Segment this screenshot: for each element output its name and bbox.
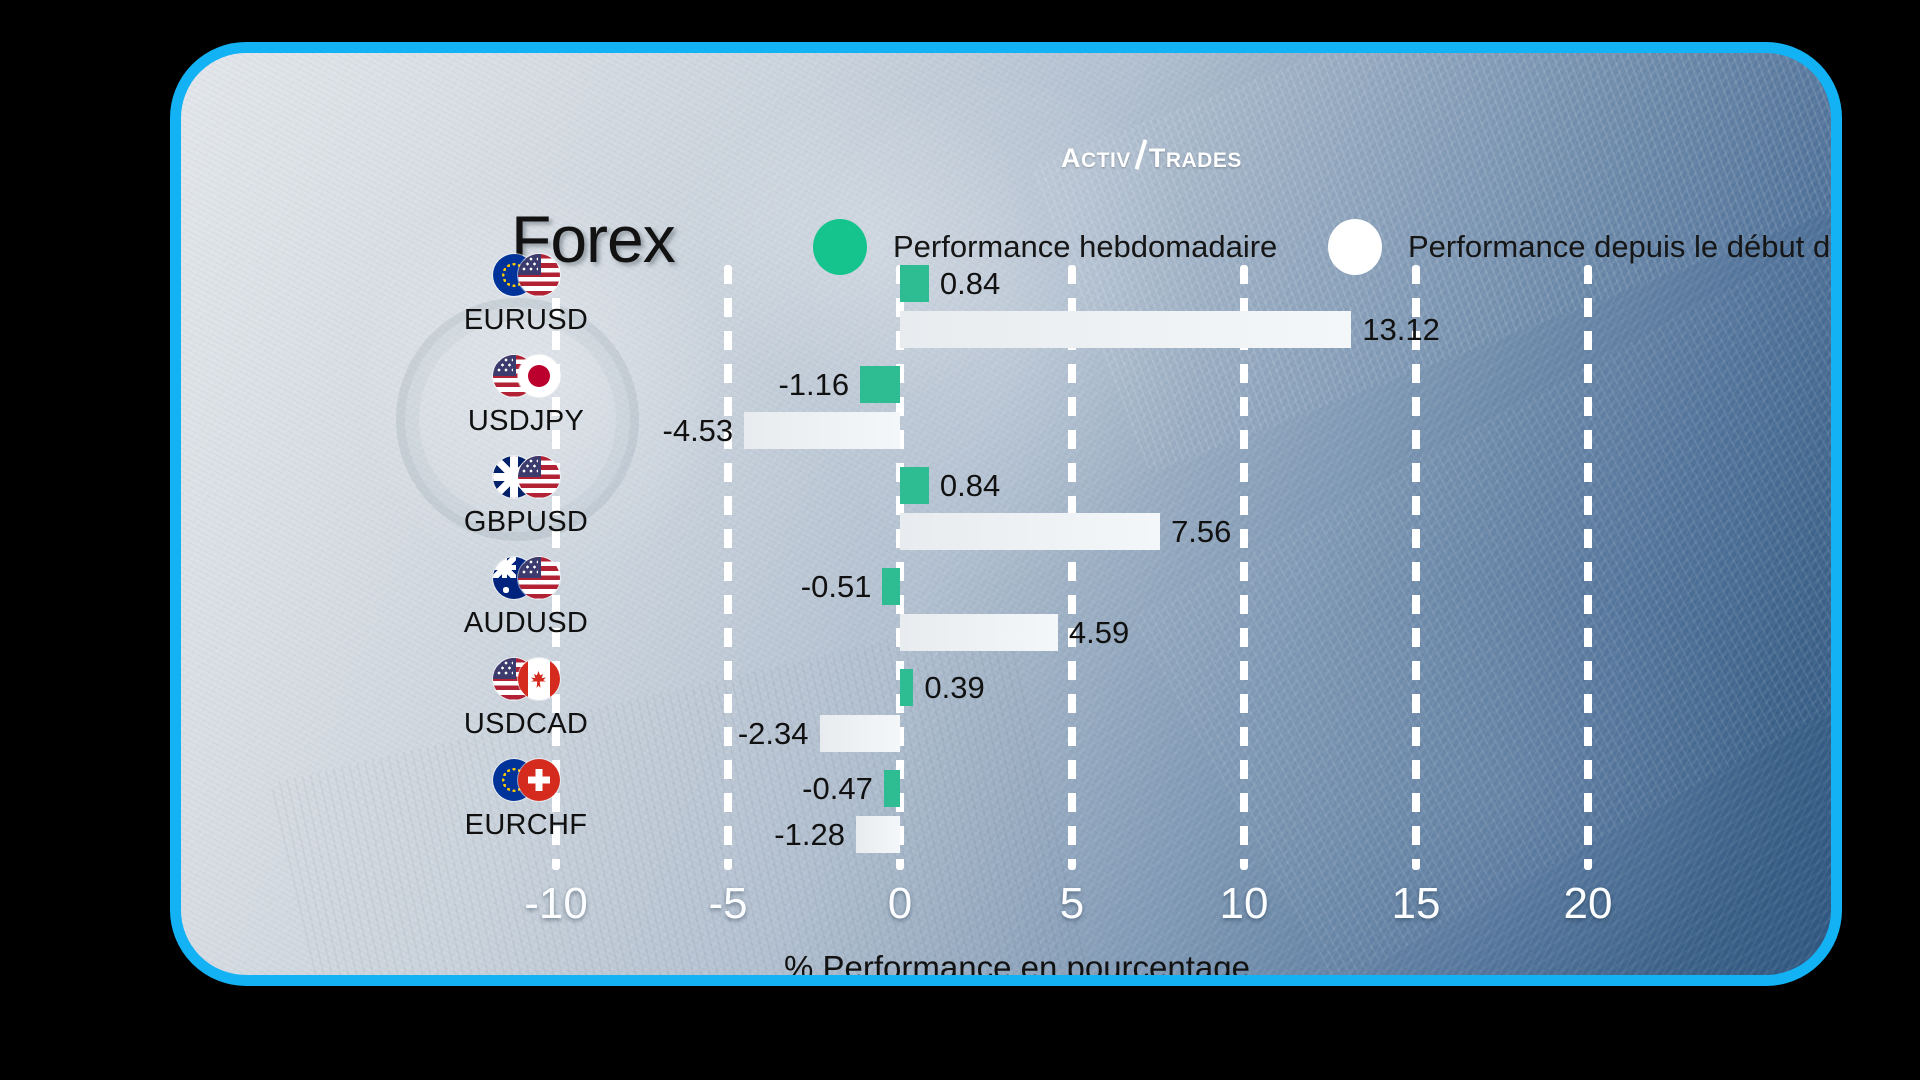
- weekly-value-usdcad: 0.39: [924, 669, 984, 706]
- ytd-bar-usdcad[interactable]: [820, 715, 900, 752]
- ytd-bar-usdjpy[interactable]: [744, 412, 900, 449]
- flag-pair: [411, 755, 641, 805]
- ytd-value-audusd: 4.59: [1069, 614, 1129, 651]
- ytd-bar-eurchf[interactable]: [856, 816, 900, 853]
- pair-label-eurusd[interactable]: EURUSD: [411, 250, 641, 337]
- pair-name: AUDUSD: [411, 607, 641, 640]
- weekly-value-usdjpy: -1.16: [778, 366, 849, 403]
- ch-flag-icon: [518, 759, 560, 801]
- weekly-value-audusd: -0.51: [801, 568, 872, 605]
- pair-name: EURUSD: [411, 304, 641, 337]
- forex-performance-card: ACTIV TRADES Forex Performance hebdomada…: [170, 42, 1842, 986]
- flag-pair: [411, 250, 641, 300]
- weekly-value-eurusd: 0.84: [940, 265, 1000, 302]
- jp-flag-icon: [518, 355, 560, 397]
- screenshot-root: ACTIV TRADES Forex Performance hebdomada…: [0, 0, 1920, 1080]
- ytd-bar-gbpusd[interactable]: [900, 513, 1160, 550]
- ca-flag-icon: [518, 658, 560, 700]
- weekly-bar-usdcad[interactable]: [900, 669, 913, 706]
- ytd-bar-audusd[interactable]: [900, 614, 1058, 651]
- x-axis-title: % Performance en pourcentage: [181, 949, 1842, 986]
- pair-name: USDJPY: [411, 405, 641, 438]
- pair-label-audusd[interactable]: AUDUSD: [411, 553, 641, 640]
- weekly-value-eurchf: -0.47: [802, 770, 873, 807]
- ytd-value-usdjpy: -4.53: [663, 412, 734, 449]
- weekly-bar-gbpusd[interactable]: [900, 467, 929, 504]
- weekly-value-gbpusd: 0.84: [940, 467, 1000, 504]
- weekly-bar-eurchf[interactable]: [884, 770, 900, 807]
- pair-label-gbpusd[interactable]: GBPUSD: [411, 452, 641, 539]
- us-flag-icon: [518, 254, 560, 296]
- weekly-bar-audusd[interactable]: [882, 568, 900, 605]
- ytd-value-eurchf: -1.28: [774, 816, 845, 853]
- ytd-bar-eurusd[interactable]: [900, 311, 1351, 348]
- us-flag-icon: [518, 456, 560, 498]
- pair-name: GBPUSD: [411, 506, 641, 539]
- us-flag-icon: [518, 557, 560, 599]
- pair-label-usdcad[interactable]: USDCAD: [411, 654, 641, 741]
- weekly-bar-eurusd[interactable]: [900, 265, 929, 302]
- flag-pair: [411, 654, 641, 704]
- pair-name: USDCAD: [411, 708, 641, 741]
- flag-pair: [411, 351, 641, 401]
- pair-label-usdjpy[interactable]: USDJPY: [411, 351, 641, 438]
- pair-label-eurchf[interactable]: EURCHF: [411, 755, 641, 842]
- chart-plot-area: EURUSD0.8413.12USDJPY-1.16-4.53GBPUSD0.8…: [181, 53, 1842, 986]
- ytd-value-usdcad: -2.34: [738, 715, 809, 752]
- flag-pair: [411, 452, 641, 502]
- ytd-value-gbpusd: 7.56: [1171, 513, 1231, 550]
- flag-pair: [411, 553, 641, 603]
- ytd-value-eurusd: 13.12: [1362, 311, 1440, 348]
- weekly-bar-usdjpy[interactable]: [860, 366, 900, 403]
- pair-name: EURCHF: [411, 809, 641, 842]
